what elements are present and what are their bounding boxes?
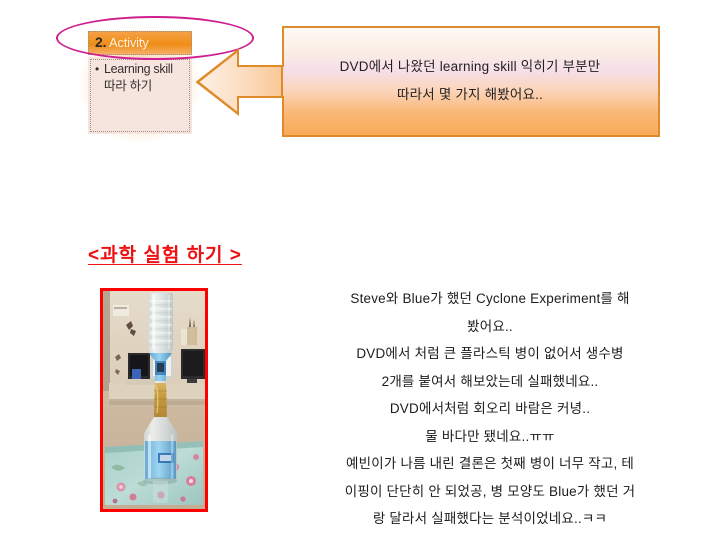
- photo-image: [103, 291, 205, 509]
- body-line: 이핑이 단단히 안 되었공, 병 모양도 Blue가 했던 거: [300, 478, 680, 506]
- callout-line-2: 따라서 몇 가지 해봤어요..: [397, 87, 543, 102]
- experiment-photo: [100, 288, 208, 512]
- callout-text-block: DVD에서 나왔던 learning skill 익히기 부분만 따라서 몇 가…: [296, 53, 644, 109]
- body-line: DVD에서처럼 회오리 바람은 커녕..: [300, 395, 680, 423]
- body-line: 물 바다만 됐네요..ㅠㅠ: [300, 423, 680, 451]
- body-line: 봤어요..: [300, 313, 680, 341]
- activity-bullet-item: • Learning skill 따라 하기: [95, 61, 187, 95]
- bullet-point-icon: •: [95, 61, 99, 78]
- body-line: DVD에서 처럼 큰 플라스틱 병이 없어서 생수병: [300, 340, 680, 368]
- section-heading: <과학 실험 하기 >: [88, 240, 242, 267]
- body-line: Steve와 Blue가 했던 Cyclone Experiment를 해: [300, 285, 680, 313]
- callout-line-1: DVD에서 나왔던 learning skill 익히기 부분만: [340, 59, 601, 74]
- callout-box[interactable]: DVD에서 나왔던 learning skill 익히기 부분만 따라서 몇 가…: [196, 26, 660, 137]
- activity-body-textbox[interactable]: • Learning skill 따라 하기: [88, 57, 192, 134]
- body-paragraph: Steve와 Blue가 했던 Cyclone Experiment를 해 봤어…: [300, 285, 680, 533]
- body-line: 2개를 붙여서 해보았는데 실패했네요..: [300, 368, 680, 396]
- body-line: 랑 달라서 실패했다는 분석이었네요..ㅋㅋ: [300, 505, 680, 533]
- body-line: 예빈이가 나름 내린 결론은 첫째 병이 너무 작고, 테: [300, 450, 680, 478]
- activity-bullet-label: Learning skill 따라 하기: [104, 61, 187, 95]
